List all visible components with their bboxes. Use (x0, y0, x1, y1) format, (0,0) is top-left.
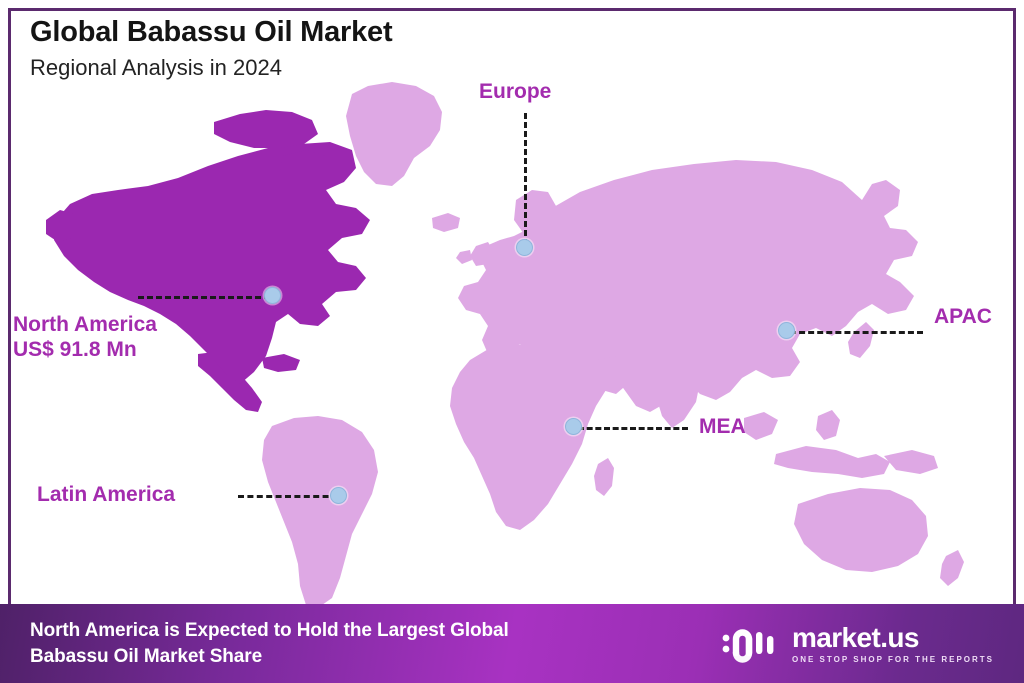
region-caribbean (262, 354, 300, 372)
region-iceland (432, 213, 460, 232)
connector-latin-america (238, 495, 338, 498)
region-indonesia (774, 446, 890, 478)
logo-tagline: ONE STOP SHOP FOR THE REPORTS (792, 656, 994, 664)
region-madagascar (594, 458, 614, 496)
marker-dot-apac[interactable] (778, 322, 795, 339)
region-label-apac: APAC (934, 305, 992, 330)
marker-dot-north-america[interactable] (264, 287, 281, 304)
page-title: Global Babassu Oil Market (30, 16, 392, 49)
region-southeast-asia (744, 412, 778, 440)
connector-apac (790, 331, 923, 334)
connector-north-america (138, 296, 270, 299)
bottom-banner: North America is Expected to Hold the La… (0, 604, 1024, 683)
infographic-root: Global Babassu Oil Market Regional Analy… (0, 0, 1024, 683)
marker-dot-europe[interactable] (516, 239, 533, 256)
region-japan (848, 322, 874, 358)
map-base-regions (46, 82, 964, 605)
region-label-europe: Europe (479, 80, 551, 105)
region-australia (794, 488, 928, 572)
region-canada-arctic (214, 110, 318, 148)
page-subtitle: Regional Analysis in 2024 (30, 55, 392, 81)
marker-dot-latin-america[interactable] (330, 487, 347, 504)
region-africa (450, 344, 614, 530)
region-label-latin-america: Latin America (37, 483, 175, 508)
region-ireland (456, 250, 472, 264)
logo-name: market.us (792, 624, 994, 652)
region-south-america (262, 416, 378, 605)
region-label-north-america: North America US$ 91.8 Mn (13, 313, 157, 363)
marker-dot-mea[interactable] (565, 418, 582, 435)
market-us-logo-icon (720, 622, 782, 666)
banner-headline: North America is Expected to Hold the La… (30, 618, 509, 668)
connector-mea (578, 427, 688, 430)
region-new-zealand (940, 550, 964, 586)
region-label-mea: MEA (699, 415, 746, 440)
region-india (656, 372, 700, 428)
title-block: Global Babassu Oil Market Regional Analy… (30, 16, 392, 81)
connector-europe (524, 113, 527, 245)
region-philippines (816, 410, 840, 440)
region-new-guinea (884, 450, 938, 474)
logo-text-block: market.us ONE STOP SHOP FOR THE REPORTS (792, 624, 994, 664)
region-greenland (346, 82, 442, 186)
brand-logo[interactable]: market.us ONE STOP SHOP FOR THE REPORTS (720, 622, 994, 666)
